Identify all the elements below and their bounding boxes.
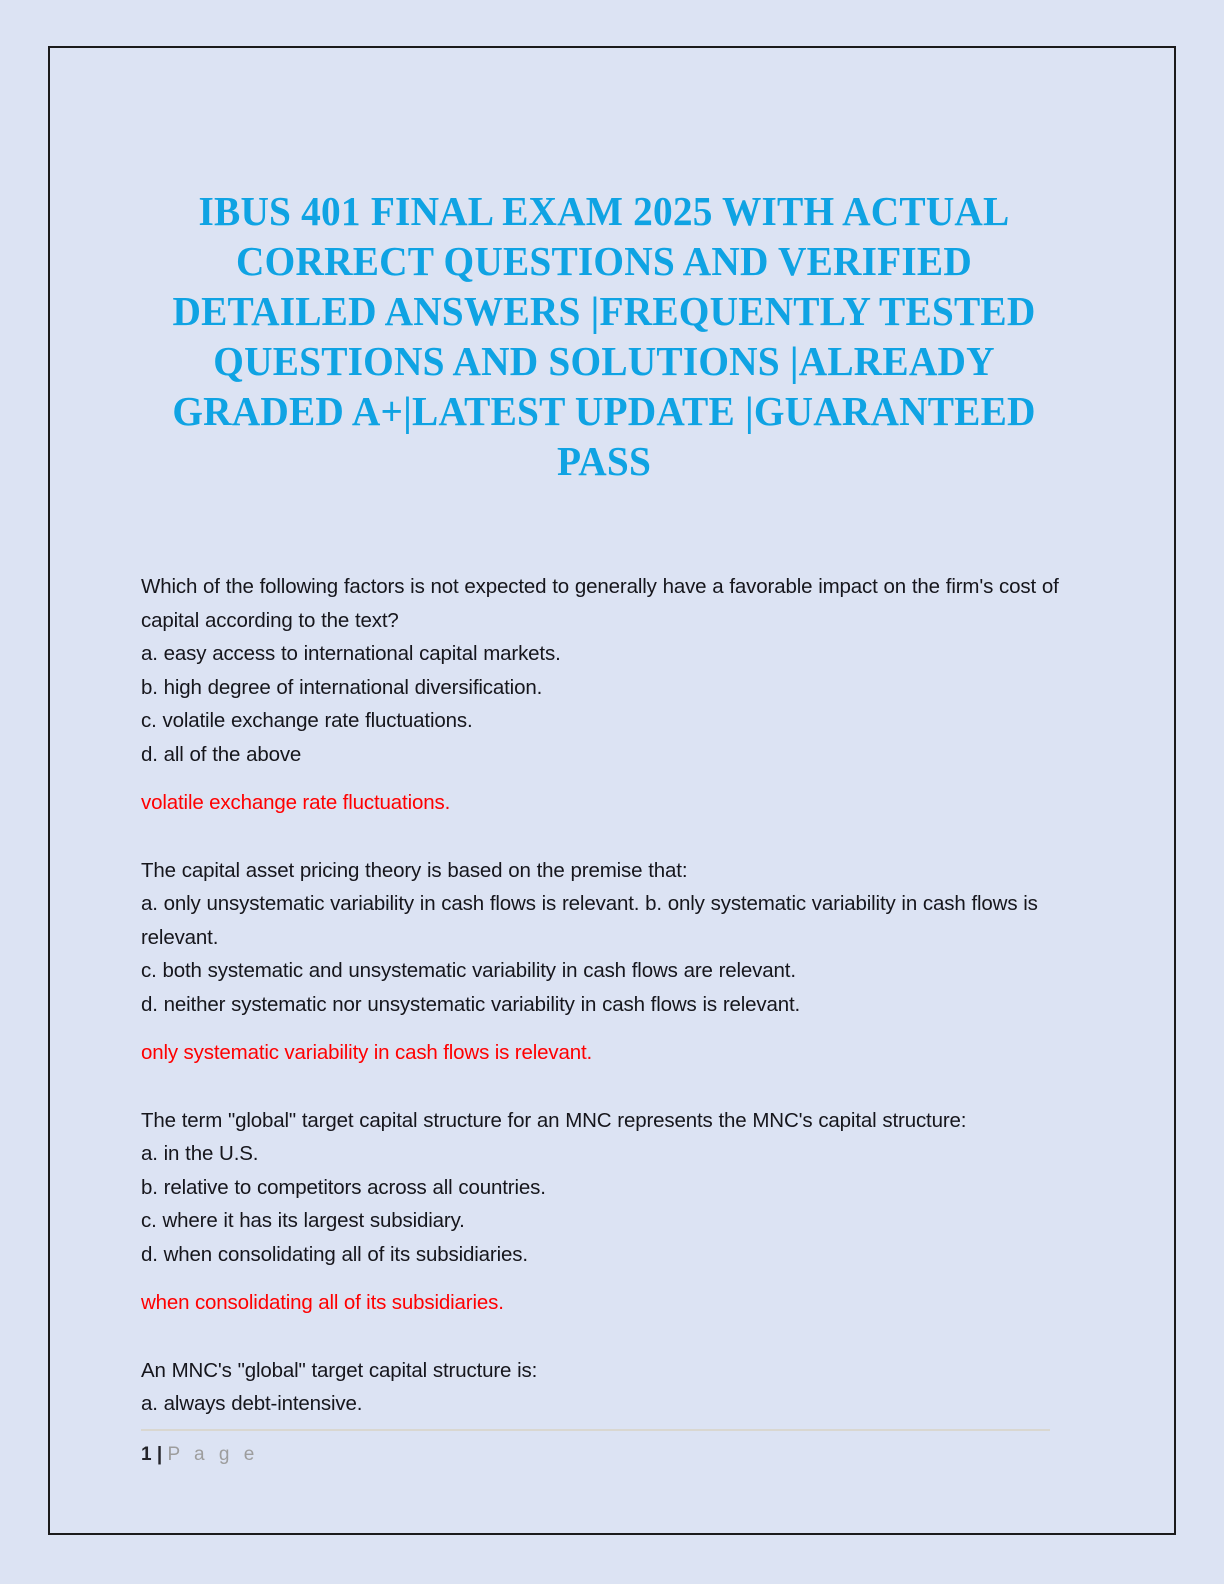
option-a: a. easy access to international capital … [141, 637, 1067, 671]
question-text: The capital asset pricing theory is base… [141, 854, 1067, 888]
option-b: b. relative to competitors across all co… [141, 1171, 1067, 1205]
option-a: a. only unsystematic variability in cash… [141, 887, 1067, 954]
footer-divider [141, 1429, 1050, 1431]
footer-separator: | [152, 1444, 168, 1465]
question-text: An MNC's "global" target capital structu… [141, 1354, 1067, 1388]
footer-page-label: 1 | P a g e [141, 1443, 1050, 1467]
option-d: d. neither systematic nor unsystematic v… [141, 988, 1067, 1022]
qa-block: An MNC's "global" target capital structu… [141, 1354, 1067, 1421]
option-c: c. where it has its largest subsidiary. [141, 1204, 1067, 1238]
document-page: IBUS 401 FINAL EXAM 2025 WITH ACTUAL COR… [0, 0, 1224, 1584]
answer-text: volatile exchange rate fluctuations. [141, 771, 1067, 836]
question-text: The term "global" target capital structu… [141, 1104, 1067, 1138]
option-a: a. in the U.S. [141, 1137, 1067, 1171]
qa-block: The capital asset pricing theory is base… [141, 854, 1067, 1086]
qa-block: The term "global" target capital structu… [141, 1104, 1067, 1336]
footer-page-word: P a g e [167, 1444, 258, 1465]
question-list: Which of the following factors is not ex… [141, 486, 1067, 1421]
answer-text: only systematic variability in cash flow… [141, 1021, 1067, 1086]
option-c: c. volatile exchange rate fluctuations. [141, 704, 1067, 738]
page-content: IBUS 401 FINAL EXAM 2025 WITH ACTUAL COR… [141, 46, 1067, 1439]
option-d: d. all of the above [141, 738, 1067, 772]
option-c: c. both systematic and unsystematic vari… [141, 954, 1067, 988]
question-text: Which of the following factors is not ex… [141, 570, 1067, 637]
page-title: IBUS 401 FINAL EXAM 2025 WITH ACTUAL COR… [160, 46, 1049, 486]
footer-page-number: 1 [141, 1444, 152, 1465]
option-b: b. high degree of international diversif… [141, 671, 1067, 705]
answer-text: when consolidating all of its subsidiari… [141, 1271, 1067, 1336]
page-footer: 1 | P a g e [141, 1429, 1050, 1467]
qa-block: Which of the following factors is not ex… [141, 570, 1067, 836]
option-a: a. always debt-intensive. [141, 1387, 1067, 1421]
option-d: d. when consolidating all of its subsidi… [141, 1238, 1067, 1272]
